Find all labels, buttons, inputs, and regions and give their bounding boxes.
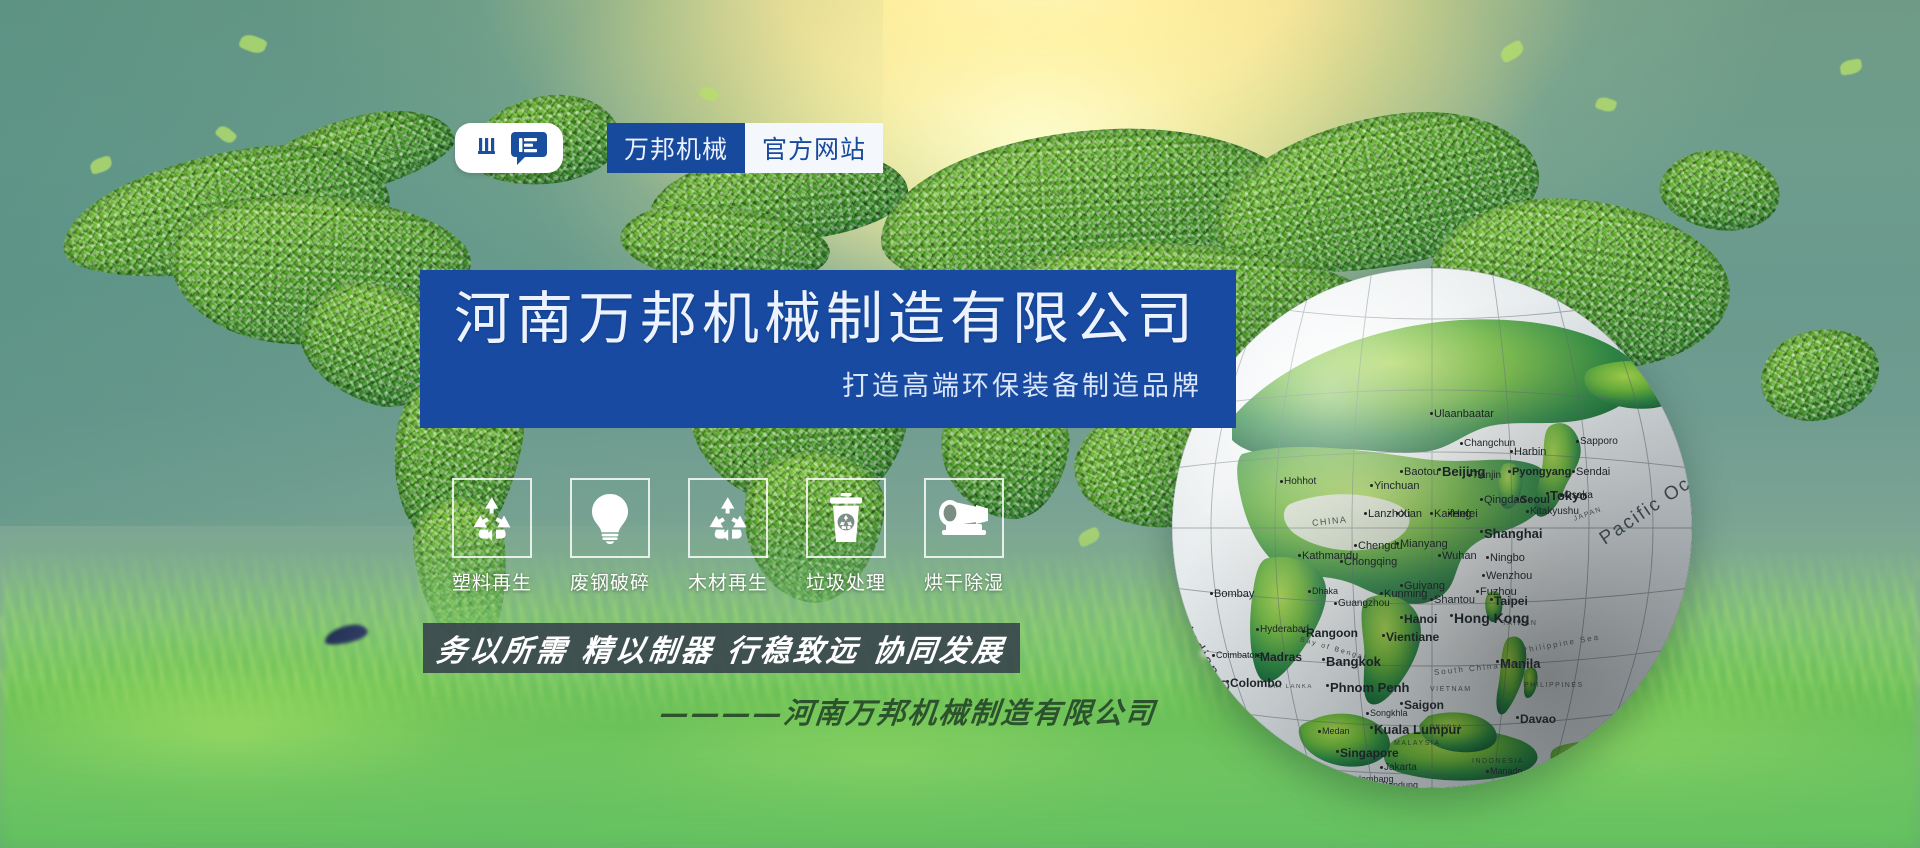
hero-banner-page: BeijingShanghaiHong KongTokyoSeoulPyongy… xyxy=(0,0,1920,848)
globe: BeijingShanghaiHong KongTokyoSeoulPyongy… xyxy=(1172,268,1692,788)
wanbang-logo[interactable] xyxy=(455,123,563,173)
feature-label: 塑料再生 xyxy=(452,568,532,595)
trash-bin-icon xyxy=(826,492,866,544)
feature-waste-treatment[interactable]: 垃圾处理 xyxy=(806,478,886,595)
recycle-icon xyxy=(703,494,753,542)
feature-label: 烘干除湿 xyxy=(924,568,1004,595)
feature-wood-recycling[interactable]: 木材再生 xyxy=(688,478,768,595)
feature-drying-dehumidify[interactable]: 烘干除湿 xyxy=(924,478,1004,595)
tab-company-label: 万邦机械 xyxy=(624,130,728,166)
page-title: 河南万邦机械制造有限公司 xyxy=(454,289,1202,349)
feature-scrap-steel-crushing[interactable]: 废钢破碎 xyxy=(570,478,650,595)
logo-w-bubble-icon xyxy=(471,133,505,163)
tab-official-site[interactable]: 官方网站 xyxy=(745,123,883,173)
feature-label: 废钢破碎 xyxy=(570,568,650,595)
feature-plastic-recycling[interactable]: 塑料再生 xyxy=(452,478,532,595)
feature-icon-box xyxy=(570,478,650,558)
feature-list: 塑料再生 废钢破碎 xyxy=(452,478,1004,595)
site-header: 万邦机械 官方网站 xyxy=(455,120,883,176)
slogan-attribution: ————河南万邦机械制造有限公司 xyxy=(658,690,1222,732)
feature-label: 木材再生 xyxy=(688,568,768,595)
feature-icon-box xyxy=(924,478,1004,558)
feature-label: 垃圾处理 xyxy=(806,568,886,595)
feature-icon-box xyxy=(806,478,886,558)
slogan-bar: 务以所需 精以制器 行稳致远 协同发展 xyxy=(423,623,1020,673)
slogan-text: 务以所需 精以制器 行稳致远 协同发展 xyxy=(435,626,1009,670)
tab-company[interactable]: 万邦机械 xyxy=(607,123,745,173)
feature-icon-box xyxy=(688,478,768,558)
lightbulb-icon xyxy=(588,492,632,544)
recycle-icon xyxy=(467,494,517,542)
feature-icon-box xyxy=(452,478,532,558)
hero-title-banner: 河南万邦机械制造有限公司 打造高端环保装备制造品牌 xyxy=(420,270,1236,428)
nav-tabs: 万邦机械 官方网站 xyxy=(607,123,883,173)
dryer-blower-icon xyxy=(936,498,992,538)
page-subtitle: 打造高端环保装备制造品牌 xyxy=(454,364,1202,403)
tab-official-site-label: 官方网站 xyxy=(762,130,866,166)
globe-graticule xyxy=(1172,268,1692,788)
logo-b-bubble-icon xyxy=(510,131,548,165)
